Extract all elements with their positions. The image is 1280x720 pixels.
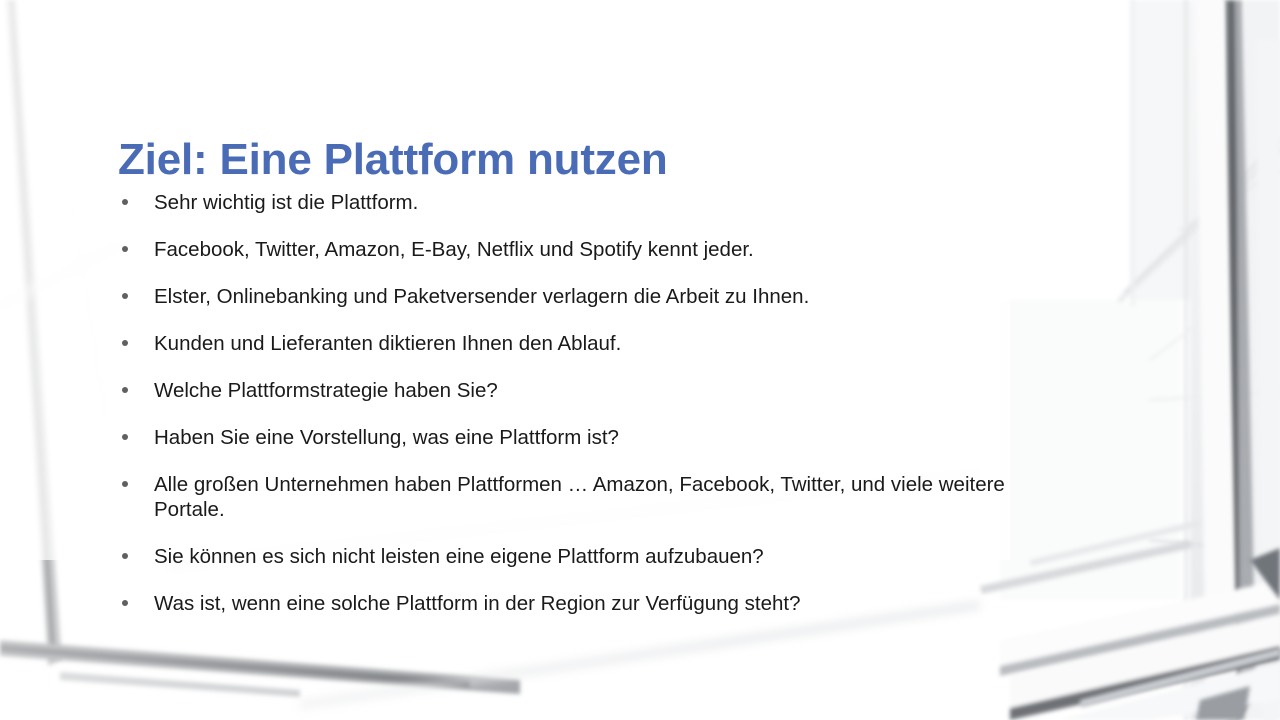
round-bullet-icon	[122, 199, 128, 205]
list-item: Alle großen Unternehmen haben Plattforme…	[118, 472, 1078, 522]
round-bullet-icon	[122, 600, 128, 606]
slide-title: Ziel: Eine Plattform nutzen	[118, 137, 1118, 183]
list-item: Kunden und Lieferanten diktieren Ihnen d…	[118, 331, 1078, 356]
list-item: Was ist, wenn eine solche Plattform in d…	[118, 591, 1078, 616]
list-item-label: Alle großen Unternehmen haben Plattforme…	[154, 472, 1034, 522]
round-bullet-icon	[122, 387, 128, 393]
list-item: Haben Sie eine Vorstellung, was eine Pla…	[118, 425, 1078, 450]
list-item: Elster, Onlinebanking und Paketversender…	[118, 284, 1078, 309]
slide-bullet-list: Sehr wichtig ist die Plattform. Facebook…	[118, 190, 1078, 616]
round-bullet-icon	[122, 293, 128, 299]
list-item: Welche Plattformstrategie haben Sie?	[118, 378, 1078, 403]
list-item-label: Facebook, Twitter, Amazon, E-Bay, Netfli…	[154, 237, 1034, 262]
list-item-label: Welche Plattformstrategie haben Sie?	[154, 378, 1034, 403]
list-item-label: Kunden und Lieferanten diktieren Ihnen d…	[154, 331, 1034, 356]
list-item-label: Sie können es sich nicht leisten eine ei…	[154, 544, 1034, 569]
round-bullet-icon	[122, 481, 128, 487]
list-item-label: Elster, Onlinebanking und Paketversender…	[154, 284, 1034, 309]
round-bullet-icon	[122, 246, 128, 252]
round-bullet-icon	[122, 553, 128, 559]
presentation-slide: Ziel: Eine Plattform nutzen Sehr wichtig…	[0, 0, 1280, 720]
list-item: Sehr wichtig ist die Plattform.	[118, 190, 1078, 215]
round-bullet-icon	[122, 340, 128, 346]
list-item-label: Haben Sie eine Vorstellung, was eine Pla…	[154, 425, 1034, 450]
list-item-label: Sehr wichtig ist die Plattform.	[154, 190, 1034, 215]
list-item: Sie können es sich nicht leisten eine ei…	[118, 544, 1078, 569]
list-item: Facebook, Twitter, Amazon, E-Bay, Netfli…	[118, 237, 1078, 262]
round-bullet-icon	[122, 434, 128, 440]
list-item-label: Was ist, wenn eine solche Plattform in d…	[154, 591, 1034, 616]
